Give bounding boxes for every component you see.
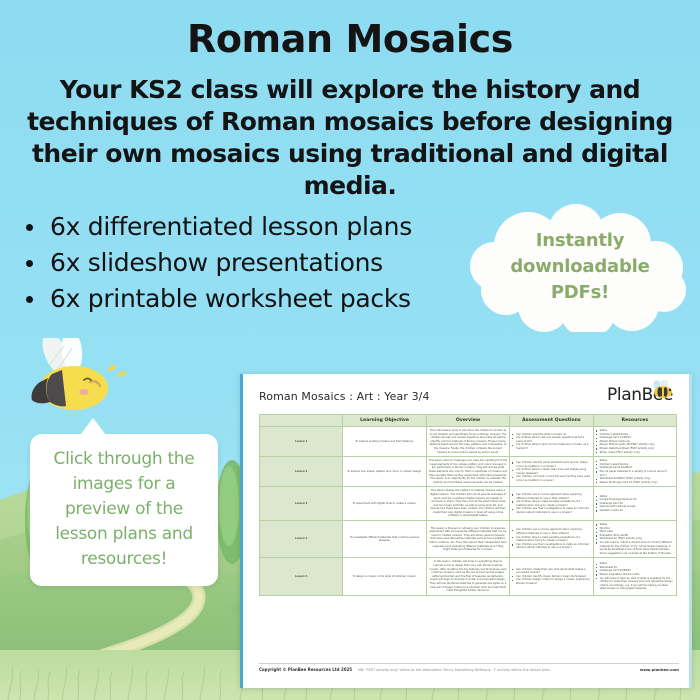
cell-resources: SlidesGoogle Drawings Handout 3AChalleng… [593, 487, 676, 521]
cell-lesson-label: Lesson 5 [260, 558, 343, 595]
cell-learning-objective: To explore existing mosaics and their fe… [343, 427, 426, 457]
badge-line-1: Instantly [468, 228, 692, 254]
cell-learning-objective: To explore line, shape, pattern and colo… [343, 457, 426, 487]
preview-callout-bubble: Click through the images for a preview o… [30, 434, 218, 586]
col-blank [260, 415, 343, 427]
badge-text: Instantly downloadable PDFs! [468, 228, 692, 306]
cell-assessment-questions: Can children create their own idea about… [510, 558, 593, 595]
cell-bullet: Question Cards 3A [596, 509, 674, 513]
cell-resources: SlidesChildren's sketchbooksChallenge Ca… [593, 457, 676, 487]
bubble-line-5: resources! [38, 547, 210, 572]
document-preview[interactable]: Roman Mosaics : Art : Year 3/4 PlanBee L… [243, 374, 689, 688]
footer-copyright: Copyright © PlanBee Resources Ltd 2025 [259, 667, 352, 672]
cell-assessment-questions: Can children identify visual elements su… [510, 457, 593, 487]
cell-resources: SlidesWorksheet 5AChallenge Card 5A/5B/5… [593, 558, 676, 595]
cell-bullet: Can children use their investigations to… [512, 543, 590, 550]
cell-bullet: Can children use their investigations to… [512, 507, 590, 514]
bubble-line-3: preview of the [38, 497, 210, 522]
promo-graphic: Roman Mosaics Your KS2 class will explor… [0, 0, 700, 700]
cell-lesson-label: Lesson 4 [260, 521, 343, 558]
cell-assessment-questions: Can children describe what a mosaic is?A… [510, 427, 593, 457]
cell-bullet: Can children comment on and discuss how … [512, 475, 590, 482]
col-learning-objective: Learning Objective [343, 415, 426, 427]
cell-bullet: Mosaic Technique Card 2A (FSD? activity … [596, 481, 674, 485]
col-overview: Overview [426, 415, 509, 427]
document-header: Roman Mosaics : Art : Year 3/4 PlanBee [259, 390, 679, 412]
cell-assessment-questions: Can children use a curious approach when… [510, 487, 593, 521]
cell-bullet: Can children create their own idea about… [512, 568, 590, 575]
badge-line-2: downloadable [468, 254, 692, 280]
cell-learning-objective: To experiment with digital tools to crea… [343, 487, 426, 521]
list-item: 6x slideshow presentations [22, 245, 412, 281]
cell-lesson-label: Lesson 2 [260, 457, 343, 487]
cell-bullet: Are children able to spot common feature… [512, 443, 590, 450]
page-subtitle: Your KS2 class will explore the history … [18, 74, 682, 202]
cell-bullet: Can children design criteria to design a… [512, 578, 590, 585]
footer-url[interactable]: www.planbee.com [640, 667, 679, 672]
cell-assessment-questions: Can children use a curious approach when… [510, 521, 593, 558]
col-resources: Resources [593, 415, 676, 427]
cell-overview: This initial lesson aims to introduce th… [426, 427, 509, 457]
feature-list: 6x differentiated lesson plans 6x slides… [22, 209, 412, 317]
cell-bullet: You will need to collect a decent amount… [596, 541, 674, 555]
list-item-label: 6x slideshow presentations [50, 248, 383, 277]
cell-learning-objective: To design a mosaic in the style of a Rom… [343, 558, 426, 595]
table-row: Lesson 1To explore existing mosaics and … [260, 427, 677, 457]
cell-learning-objective: To investigate different materials that … [343, 521, 426, 558]
lesson-overview-table: Learning Objective Overview Assessment Q… [259, 414, 677, 596]
instantly-downloadable-badge: Instantly downloadable PDFs! [468, 204, 692, 332]
cell-bullet: Are children able to make sensible evalu… [512, 536, 590, 543]
cell-overview: This lesson aims to challenge your class… [426, 457, 509, 487]
cell-resources: SlidesChildren's sketchbooksChallenge Ca… [593, 427, 676, 457]
bullet-dot-icon [26, 260, 33, 267]
table-header-row: Learning Objective Overview Assessment Q… [260, 415, 677, 427]
table-row: Lesson 5To design a mosaic in the style … [260, 558, 677, 595]
list-item: 6x differentiated lesson plans [22, 209, 412, 245]
col-assessment-questions: Assessment Questions [510, 415, 593, 427]
bee-illustration [12, 338, 132, 420]
footer-note: NB: 'FSD? activity only' refers to the a… [358, 668, 634, 672]
table-row: Lesson 4To investigate different materia… [260, 521, 677, 558]
bubble-pointer-icon [80, 418, 106, 435]
cell-bullet: Sticky notes (FSD? activity only) [596, 451, 674, 455]
table-row: Lesson 2To explore line, shape, pattern … [260, 457, 677, 487]
bullet-dot-icon [26, 224, 33, 231]
cell-resources: SlidesMod RocMod? CaseEvaluation Strip 4… [593, 521, 676, 558]
bubble-line-2: images for a [38, 472, 210, 497]
cell-bullet: Can children use a curious approach when… [512, 528, 590, 535]
table-row: Lesson 3To experiment with digital tools… [260, 487, 677, 521]
document-right-edge [689, 374, 692, 688]
list-item: 6x printable worksheet packs [22, 281, 412, 317]
cell-bullet: You will need to have an idea of what is… [596, 577, 674, 591]
planbee-bee-icon [649, 380, 675, 400]
cell-overview: This lesson is focused on allowing your … [426, 521, 509, 558]
document-footer: Copyright © PlanBee Resources Ltd 2025 N… [259, 663, 679, 672]
bubble-line-1: Click through the [38, 447, 210, 472]
cell-overview: In this lesson, children will draw on ev… [426, 558, 509, 595]
page-title: Roman Mosaics [0, 0, 700, 60]
bubble-text: Click through the images for a preview o… [38, 447, 210, 572]
cell-lesson-label: Lesson 3 [260, 487, 343, 521]
bubble-line-4: lesson plans and [38, 522, 210, 547]
list-item-label: 6x differentiated lesson plans [50, 212, 412, 241]
planbee-logo: PlanBee [563, 384, 673, 414]
bullet-dot-icon [26, 296, 33, 303]
badge-line-3: PDFs! [468, 280, 692, 306]
cell-overview: This lesson studies the method of creati… [426, 487, 509, 521]
cell-lesson-label: Lesson 1 [260, 427, 343, 457]
list-item-label: 6x printable worksheet packs [50, 284, 411, 313]
